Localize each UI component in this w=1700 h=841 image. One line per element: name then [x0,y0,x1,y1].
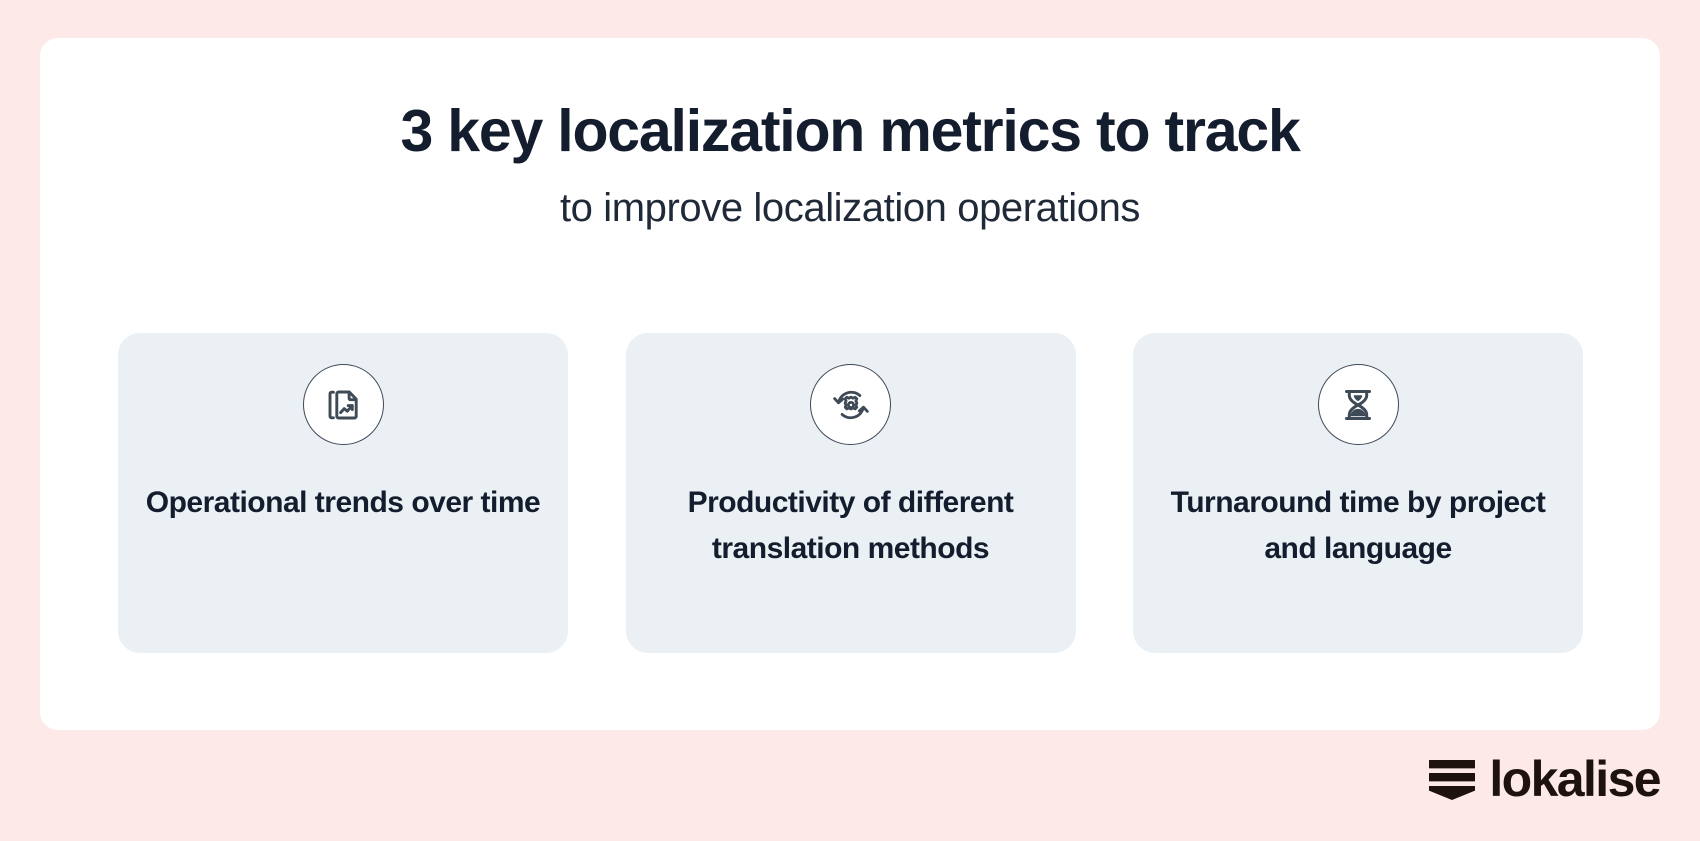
lokalise-wordmark: lokalise [1489,754,1660,804]
metric-card-label: Turnaround time by project and language [1133,480,1583,571]
gear-cycle-icon [829,383,873,427]
hourglass-icon [1337,384,1379,426]
content-panel: 3 key localization metrics to track to i… [40,38,1660,730]
metric-card-operational-trends: Operational trends over time [118,333,568,653]
metric-card-productivity: Productivity of different translation me… [626,333,1076,653]
metric-cards-row: Operational trends over time [118,333,1583,653]
lokalise-bars-chevron-icon [1429,757,1475,806]
metric-card-turnaround-time: Turnaround time by project and language [1133,333,1583,653]
page-title: 3 key localization metrics to track [40,100,1660,164]
icon-circle [303,364,384,445]
page-subtitle: to improve localization operations [40,186,1660,230]
heading-block: 3 key localization metrics to track to i… [40,100,1660,230]
icon-circle [810,364,891,445]
metric-card-label: Productivity of different translation me… [626,480,1076,571]
lokalise-logo: lokalise [1429,757,1660,805]
document-trend-icon [321,383,365,427]
metric-card-label: Operational trends over time [120,480,566,526]
icon-circle [1318,364,1399,445]
